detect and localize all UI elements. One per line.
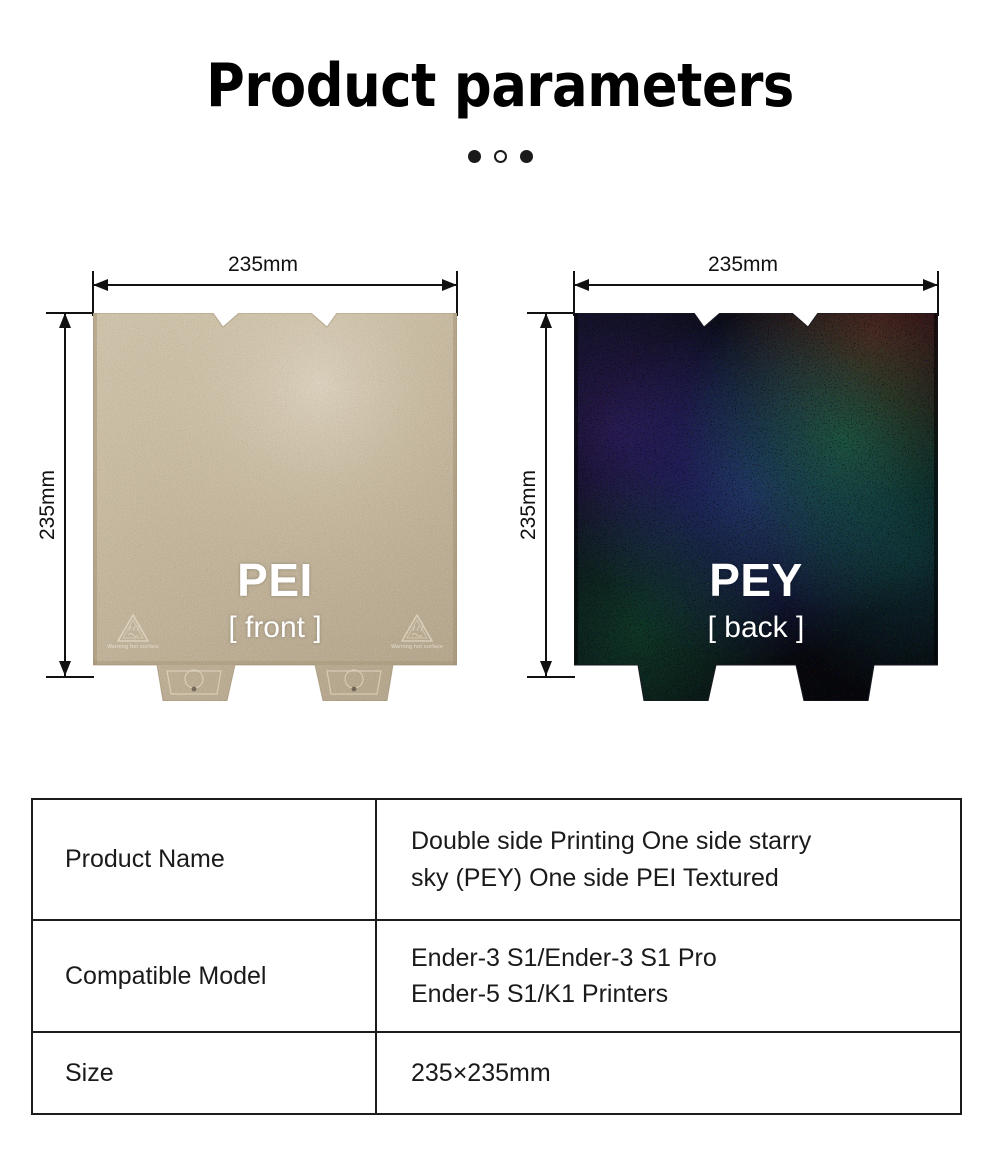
spec-value-line: sky (PEY) One side PEI Textured [411, 860, 960, 896]
table-row: Size 235×235mm [32, 1032, 961, 1114]
pei-width-ext-left [92, 271, 94, 316]
pey-width-arrow-left-icon [574, 279, 589, 291]
pey-width-arrow-line [574, 284, 938, 286]
spec-value-line: 235×235mm [411, 1055, 960, 1091]
pey-height-arrow-line [545, 313, 547, 676]
hot-surface-warning-triangle-icon [116, 613, 150, 643]
pey-width-ext-right [937, 271, 939, 316]
pei-warning-decal-left-text: Warning hot surface [105, 644, 161, 650]
pei-height-arrow-line [64, 313, 66, 676]
pei-width-arrow-left-icon [93, 279, 108, 291]
spec-value-compatible-model: Ender-3 S1/Ender-3 S1 Pro Ender-5 S1/K1 … [376, 920, 961, 1032]
pei-height-arrow-down-icon [59, 661, 71, 676]
pey-height-dimension-label: 235mm [517, 470, 541, 540]
table-row: Product Name Double side Printing One si… [32, 799, 961, 920]
pei-height-arrow-up-icon [59, 313, 71, 328]
pei-warning-decal-right-text: Warning hot surface [389, 644, 445, 650]
hot-surface-warning-triangle-icon [400, 613, 434, 643]
pey-width-dimension-label: 235mm [708, 253, 778, 277]
spec-value-size: 235×235mm [376, 1032, 961, 1114]
pei-height-dimension-label: 235mm [36, 470, 60, 540]
pei-width-ext-right [456, 271, 458, 316]
pey-height-arrow-up-icon [540, 313, 552, 328]
pey-height-ext-bottom [527, 676, 575, 678]
pei-width-arrow-line [93, 284, 457, 286]
spec-value-line: Ender-3 S1/Ender-3 S1 Pro [411, 940, 960, 976]
plate-illustrations: 235mm 235mm [0, 0, 1000, 760]
spec-value-product-name: Double side Printing One side starry sky… [376, 799, 961, 920]
product-parameters-table: Product Name Double side Printing One si… [31, 798, 962, 1115]
pey-plate-shape [574, 313, 938, 701]
pei-height-ext-bottom [46, 676, 94, 678]
pey-width-arrow-right-icon [923, 279, 938, 291]
plate-figure-pei: 235mm 235mm [0, 0, 500, 760]
pey-build-plate: PEY [ back ] [574, 313, 938, 701]
pei-build-plate: Warning hot surface Warning hot surface … [93, 313, 457, 701]
pei-width-dimension-label: 235mm [228, 253, 298, 277]
spec-label-size: Size [32, 1032, 376, 1114]
pey-width-ext-left [573, 271, 575, 316]
spec-label-product-name: Product Name [32, 799, 376, 920]
pei-warning-decal-left: Warning hot surface [105, 613, 161, 650]
pey-height-arrow-down-icon [540, 661, 552, 676]
table-row: Compatible Model Ender-3 S1/Ender-3 S1 P… [32, 920, 961, 1032]
plate-figure-pey: 235mm 235mm [500, 0, 1000, 760]
pei-width-arrow-right-icon [442, 279, 457, 291]
spec-label-compatible-model: Compatible Model [32, 920, 376, 1032]
spec-value-line: Double side Printing One side starry [411, 823, 960, 859]
pei-warning-decal-right: Warning hot surface [389, 613, 445, 650]
spec-value-line: Ender-5 S1/K1 Printers [411, 976, 960, 1012]
